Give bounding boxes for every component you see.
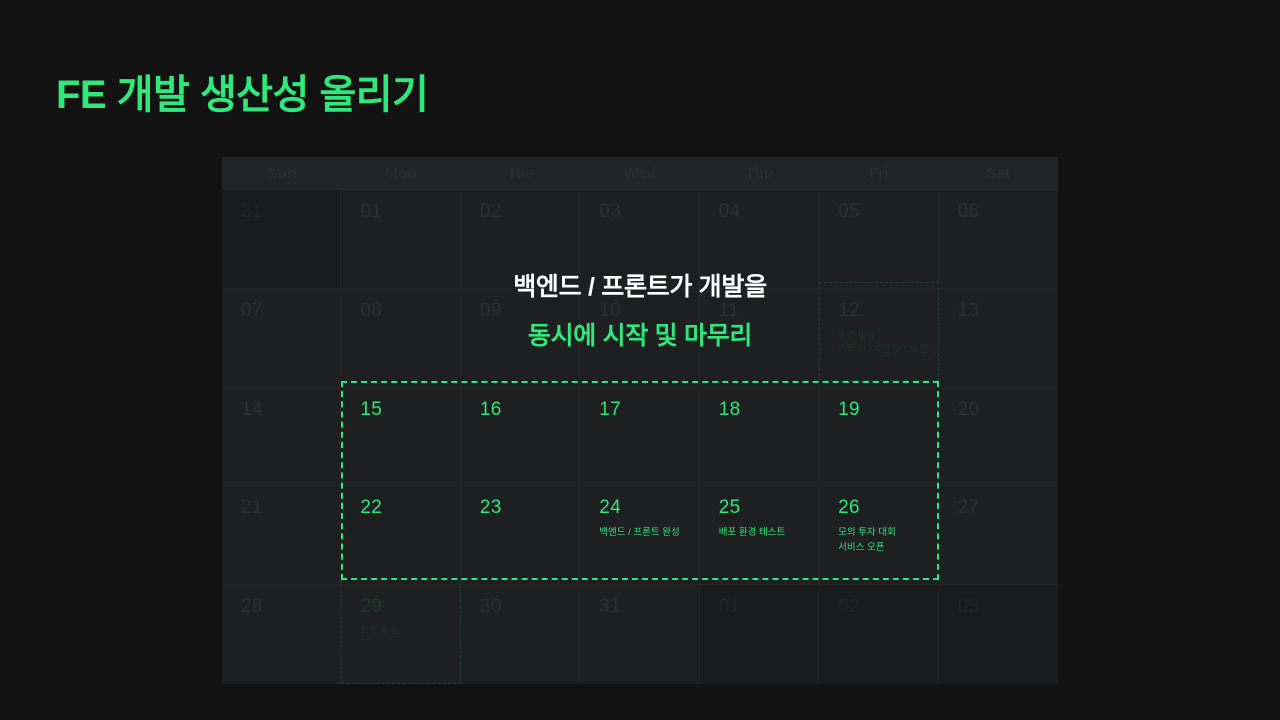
calendar-day-cell[interactable]: 16 [461, 388, 580, 487]
calendar-week-row: 14151617181920 [222, 388, 1058, 487]
calendar-day-cell[interactable]: 23 [461, 486, 580, 585]
calendar-event-label: 모의 투자 대회 [838, 526, 937, 540]
calendar-day-number: 14 [241, 400, 340, 419]
weekday-label-sat: Sat [939, 157, 1058, 189]
calendar-day-number: 27 [958, 498, 1058, 517]
calendar-day-cell[interactable]: 03 [939, 585, 1058, 684]
calendar-day-cell[interactable]: 01 [700, 585, 819, 684]
calendar-day-number: 30 [480, 597, 579, 616]
weekday-label-fri: Fri [819, 157, 938, 189]
calendar-day-number: 31 [241, 202, 340, 221]
calendar-day-cell[interactable]: 21 [222, 486, 341, 585]
calendar-week-row: 2829최종 발표3031010203 [222, 585, 1058, 684]
calendar-event-label: 최종 발표 [360, 625, 459, 639]
calendar-day-cell[interactable]: 15 [341, 388, 460, 487]
calendar-day-cell[interactable]: 18 [700, 388, 819, 487]
calendar-week-row: 21222324백엔드 / 프론트 완성25배포 환경 테스트26모의 투자 대… [222, 486, 1058, 585]
calendar-day-cell[interactable]: 17 [580, 388, 699, 487]
calendar-day-number: 03 [599, 202, 698, 221]
calendar-event-label: 서비스 오픈 [838, 541, 937, 555]
calendar-day-cell[interactable]: 25배포 환경 테스트 [700, 486, 819, 585]
page-title: FE 개발 생산성 올리기 [56, 62, 428, 120]
calendar-day-number: 15 [360, 400, 459, 419]
calendar-day-number: 25 [719, 498, 818, 517]
calendar-day-events: 백엔드 / 프론트 완성 [599, 526, 698, 540]
calendar-widget: SunMonTueWedThuFriSat 310102030405060708… [222, 157, 1058, 684]
calendar-day-number: 02 [480, 202, 579, 221]
calendar-day-cell[interactable]: 20 [939, 388, 1058, 487]
calendar-day-number: 18 [719, 400, 818, 419]
weekday-label-thu: Thu [700, 157, 819, 189]
calendar-weekday-header: SunMonTueWedThuFriSat [222, 157, 1058, 190]
calendar-day-number: 05 [838, 202, 937, 221]
calendar-day-number: 29 [360, 597, 459, 616]
weekday-label-mon: Mon [341, 157, 460, 189]
calendar-day-cell[interactable]: 02 [819, 585, 938, 684]
calendar-day-number: 01 [719, 597, 818, 616]
calendar-day-number: 06 [958, 202, 1058, 221]
calendar-day-cell[interactable]: 30 [461, 585, 580, 684]
calendar-day-cell[interactable]: 31 [580, 585, 699, 684]
calendar-day-number: 17 [599, 400, 698, 419]
calendar-event-label: 백엔드 / 프론트 완성 [599, 526, 698, 540]
calendar-day-cell[interactable]: 27 [939, 486, 1058, 585]
calendar-day-number: 22 [360, 498, 459, 517]
calendar-day-number: 23 [480, 498, 579, 517]
calendar-day-number: 20 [958, 400, 1058, 419]
calendar-event-label: 배포 환경 테스트 [719, 526, 818, 540]
overlay-message: 백엔드 / 프론트가 개발을 동시에 시작 및 마무리 [0, 272, 1280, 353]
calendar-day-number: 26 [838, 498, 937, 517]
calendar-day-number: 28 [241, 597, 340, 616]
calendar-day-events: 최종 발표 [360, 625, 459, 639]
calendar-day-number: 19 [838, 400, 937, 419]
weekday-label-tue: Tue [461, 157, 580, 189]
calendar-day-cell[interactable]: 22 [341, 486, 460, 585]
calendar-day-number: 31 [599, 597, 698, 616]
weekday-label-wed: Wed [580, 157, 699, 189]
calendar-day-number: 24 [599, 498, 698, 517]
calendar-day-cell[interactable]: 28 [222, 585, 341, 684]
calendar-day-events: 배포 환경 테스트 [719, 526, 818, 540]
overlay-message-line-1: 백엔드 / 프론트가 개발을 [0, 272, 1280, 303]
calendar-day-events: 모의 투자 대회서비스 오픈 [838, 526, 937, 555]
calendar-day-number: 02 [838, 597, 937, 616]
calendar-day-number: 01 [360, 202, 459, 221]
calendar-day-number: 04 [719, 202, 818, 221]
calendar-day-cell[interactable]: 14 [222, 388, 341, 487]
calendar-day-cell[interactable]: 29최종 발표 [341, 585, 460, 684]
calendar-week-grid: 31010203040506070809101112중간 발표기획 / 디자인 … [222, 190, 1058, 684]
weekday-label-sun: Sun [222, 157, 341, 189]
calendar-day-cell[interactable]: 26모의 투자 대회서비스 오픈 [819, 486, 938, 585]
calendar-day-cell[interactable]: 24백엔드 / 프론트 완성 [580, 486, 699, 585]
overlay-message-line-2: 동시에 시작 및 마무리 [0, 321, 1280, 352]
calendar-day-number: 16 [480, 400, 579, 419]
calendar-day-number: 21 [241, 498, 340, 517]
calendar-day-number: 03 [958, 597, 1058, 616]
calendar-day-cell[interactable]: 19 [819, 388, 938, 487]
